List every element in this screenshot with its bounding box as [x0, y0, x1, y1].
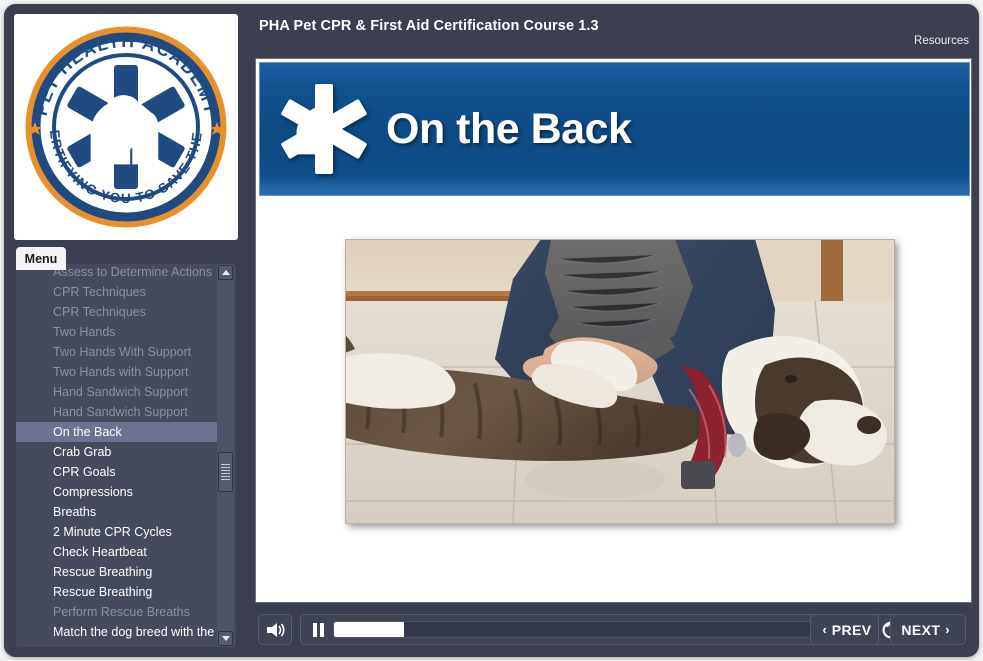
slide-title-banner: On the Back: [259, 62, 970, 196]
chevron-up-icon: [222, 270, 230, 275]
slide-title: On the Back: [386, 105, 631, 154]
menu-item[interactable]: Hand Sandwich Support: [16, 382, 221, 402]
menu-item-label: On the Back: [53, 425, 122, 439]
menu-item-label: Assess to Determine Actions: [53, 265, 212, 279]
pet-health-academy-logo: PET HEALTH ACADEMY CERTIFYING YOU TO SAV…: [22, 23, 230, 231]
menu-item[interactable]: On the Back: [16, 422, 221, 442]
menu-item-label: CPR Goals: [53, 465, 116, 479]
next-button-label: NEXT: [901, 622, 940, 638]
menu-item-label: Hand Sandwich Support: [53, 385, 188, 399]
grip-line: [221, 467, 230, 468]
menu-panel: Assess to Determine ActionsCPR Technique…: [16, 264, 236, 647]
player-control-bar: ‹ PREV NEXT ›: [248, 603, 979, 657]
menu-item-label: CPR Techniques: [53, 305, 146, 319]
menu-item[interactable]: Hand Sandwich Support: [16, 402, 221, 422]
seek-progress-fill: [334, 622, 404, 637]
pause-icon-bar: [320, 623, 324, 637]
menu-item-label: Crab Grab: [53, 445, 111, 459]
menu-item[interactable]: Poisoning: [16, 642, 221, 645]
menu-item-label: Check Heartbeat: [53, 545, 147, 559]
grip-line: [221, 479, 230, 480]
menu-tab[interactable]: Menu: [16, 247, 66, 270]
menu-item[interactable]: Match the dog breed with the ...: [16, 622, 221, 642]
menu-item[interactable]: CPR Techniques: [16, 302, 221, 322]
sidebar: PET HEALTH ACADEMY CERTIFYING YOU TO SAV…: [4, 4, 248, 657]
menu-item[interactable]: 2 Minute CPR Cycles: [16, 522, 221, 542]
chevron-down-icon: [222, 636, 230, 641]
scroll-up-icon[interactable]: [218, 265, 233, 280]
grip-line: [221, 470, 230, 471]
menu-item-label: Hand Sandwich Support: [53, 405, 188, 419]
menu-item[interactable]: CPR Techniques: [16, 282, 221, 302]
resources-link[interactable]: Resources: [914, 35, 969, 47]
menu-item-label: Compressions: [53, 485, 133, 499]
menu-item[interactable]: Two Hands: [16, 322, 221, 342]
course-player-frame: PET HEALTH ACADEMY CERTIFYING YOU TO SAV…: [4, 4, 979, 657]
next-button[interactable]: NEXT ›: [890, 614, 966, 645]
menu-list[interactable]: Assess to Determine ActionsCPR Technique…: [16, 264, 221, 645]
menu-item[interactable]: Perform Rescue Breaths: [16, 602, 221, 622]
pause-button[interactable]: [305, 614, 331, 645]
slide-photo: [345, 239, 895, 524]
menu-item[interactable]: Compressions: [16, 482, 221, 502]
menu-item-label: Rescue Breathing: [53, 585, 152, 599]
menu-item-label: Two Hands With Support: [53, 345, 191, 359]
volume-icon: [265, 621, 285, 639]
menu-item-label: Breaths: [53, 505, 96, 519]
slide-stage: On the Back: [255, 58, 972, 603]
seek-slider[interactable]: [333, 621, 870, 638]
menu-item-label: Match the dog breed with the ...: [53, 625, 221, 639]
menu-item[interactable]: Rescue Breathing: [16, 562, 221, 582]
dog-cpr-photo: [345, 239, 895, 524]
prev-button[interactable]: ‹ PREV: [810, 614, 879, 645]
grip-line: [221, 476, 230, 477]
menu-scrollbar[interactable]: [217, 264, 234, 647]
chevron-left-icon: ‹: [822, 622, 826, 637]
prev-button-label: PREV: [832, 622, 872, 638]
menu-item[interactable]: Crab Grab: [16, 442, 221, 462]
menu-item[interactable]: Two Hands With Support: [16, 342, 221, 362]
menu-item-label: Two Hands: [53, 325, 116, 339]
menu-item[interactable]: Breaths: [16, 502, 221, 522]
pause-icon-bar: [313, 623, 317, 637]
volume-button[interactable]: [258, 614, 292, 645]
chevron-right-icon: ›: [945, 622, 949, 637]
menu-item[interactable]: Two Hands with Support: [16, 362, 221, 382]
page-title: PHA Pet CPR & First Aid Certification Co…: [259, 18, 599, 34]
menu-item-label: 2 Minute CPR Cycles: [53, 525, 172, 539]
menu-item-label: Two Hands with Support: [53, 365, 189, 379]
scroll-down-icon[interactable]: [218, 631, 233, 646]
grip-line: [221, 473, 230, 474]
academy-logo-panel: PET HEALTH ACADEMY CERTIFYING YOU TO SAV…: [14, 14, 238, 240]
menu-item[interactable]: Rescue Breathing: [16, 582, 221, 602]
scrollbar-thumb[interactable]: [218, 452, 233, 492]
menu-item-label: Rescue Breathing: [53, 565, 152, 579]
grip-line: [221, 464, 230, 465]
menu-item-label: CPR Techniques: [53, 285, 146, 299]
star-of-life-pet-icon: [276, 81, 372, 177]
menu-item[interactable]: CPR Goals: [16, 462, 221, 482]
menu-tab-label: Menu: [25, 252, 58, 266]
menu-item-label: Perform Rescue Breaths: [53, 605, 190, 619]
main-content: PHA Pet CPR & First Aid Certification Co…: [248, 4, 979, 657]
menu-item[interactable]: Check Heartbeat: [16, 542, 221, 562]
